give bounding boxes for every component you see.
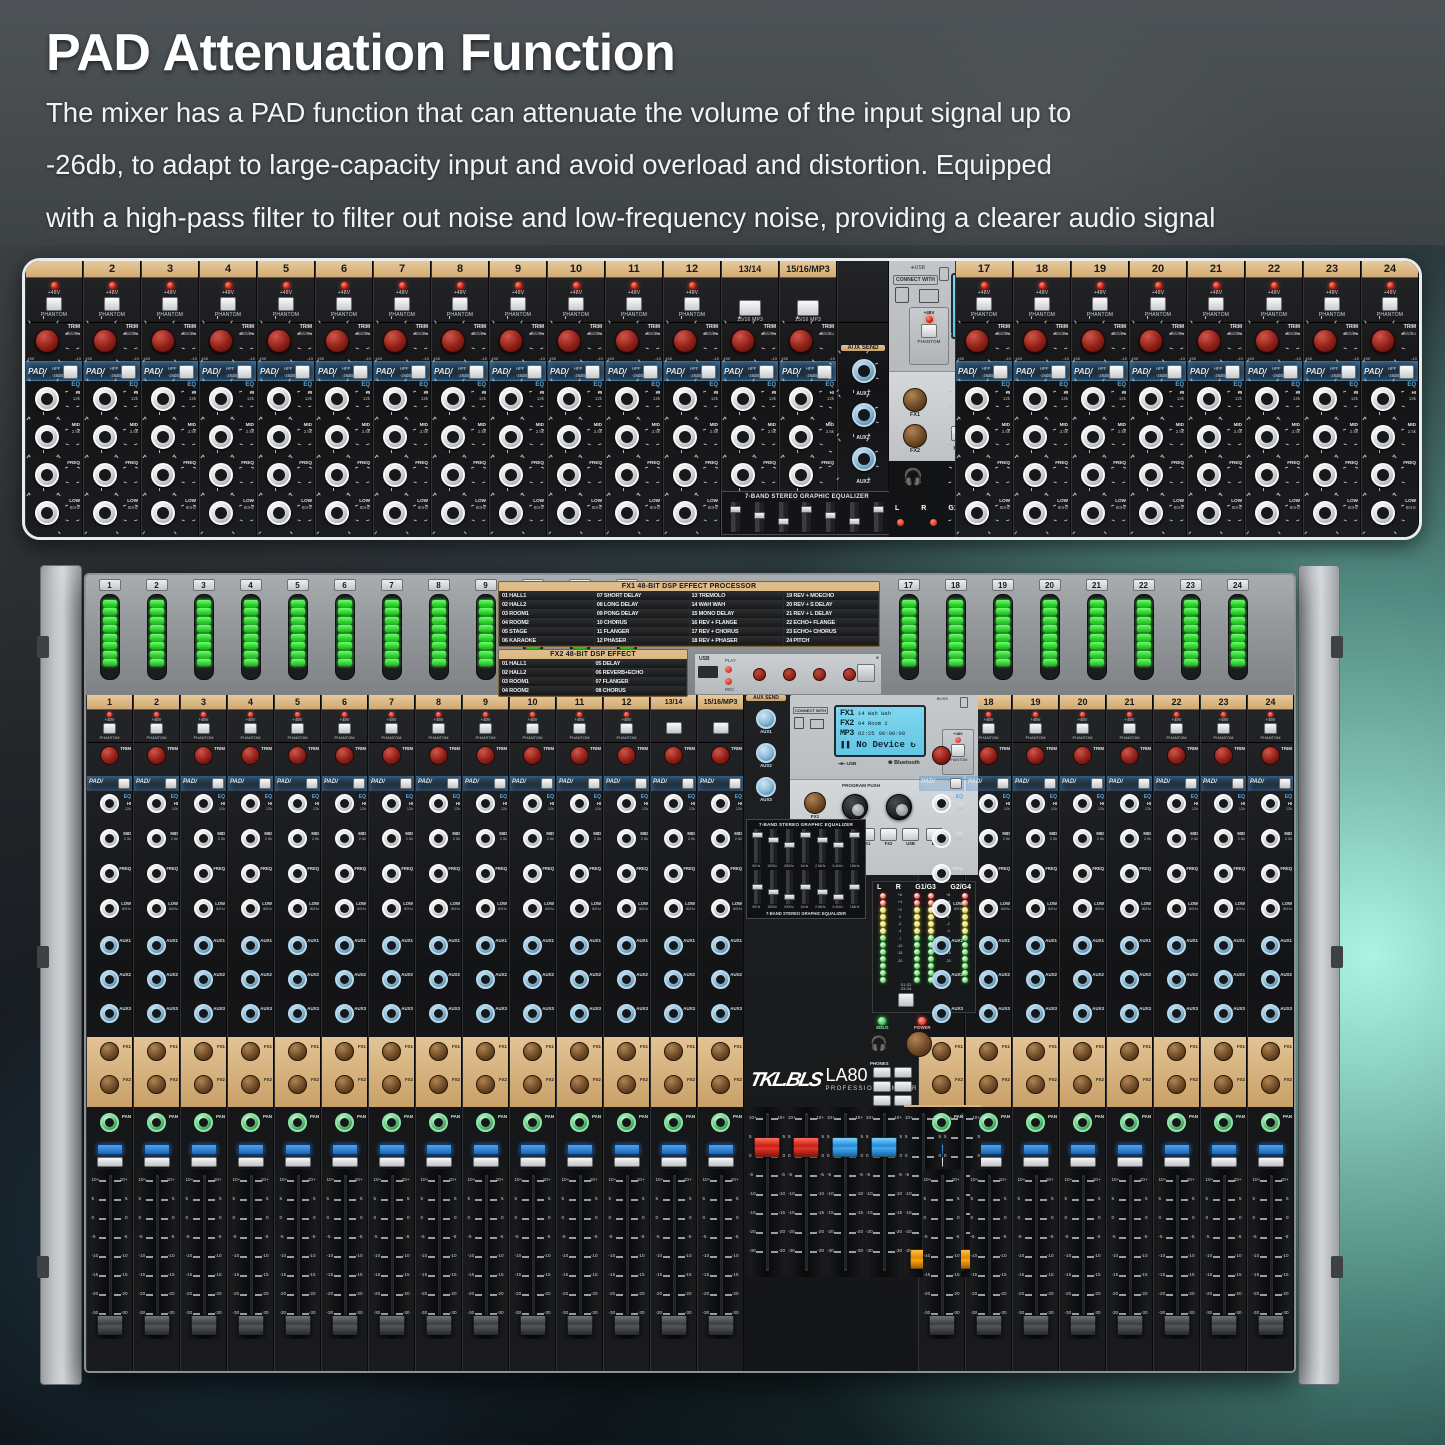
pad-button[interactable] — [585, 365, 600, 379]
transport-button-2[interactable] — [813, 668, 826, 681]
program-button-fx2[interactable] — [880, 828, 897, 841]
channel-mute-button[interactable] — [614, 1144, 640, 1155]
channel-fader[interactable]: 10+10+5500-5-5-10-10-15-15-20-20-30-30 — [608, 1169, 646, 1339]
eq-mid-knob[interactable] — [1026, 829, 1045, 848]
pad-button[interactable] — [237, 365, 252, 379]
channel-mute-button[interactable] — [1070, 1144, 1096, 1155]
eq-freq-knob[interactable] — [570, 864, 589, 883]
geq-band-5[interactable] — [850, 502, 859, 532]
aux3-knob[interactable] — [1167, 1004, 1186, 1023]
pan-knob[interactable] — [570, 1113, 589, 1132]
aux1-knob[interactable] — [429, 936, 448, 955]
aux1-knob[interactable] — [617, 936, 636, 955]
eq-hi-knob[interactable] — [979, 794, 998, 813]
aux3-knob[interactable] — [523, 1004, 542, 1023]
pad-button[interactable] — [950, 778, 962, 789]
mp3-source-button[interactable] — [666, 722, 682, 734]
channel-fader[interactable]: 10+10+5500-5-5-10-10-15-15-20-20-30-30 — [702, 1169, 740, 1339]
fader-cap[interactable] — [379, 1315, 405, 1335]
eq-mid-knob[interactable] — [1120, 829, 1139, 848]
aux2-knob[interactable] — [382, 970, 401, 989]
phantom-button[interactable] — [432, 723, 445, 734]
trim-knob[interactable] — [1214, 746, 1233, 765]
trim-knob[interactable] — [335, 746, 354, 765]
fader-cap[interactable] — [793, 1137, 819, 1157]
eq-hi-knob[interactable] — [673, 387, 697, 411]
geq-band-4-cap[interactable] — [825, 512, 836, 519]
pad-button[interactable] — [400, 778, 412, 789]
phantom-button[interactable] — [1264, 723, 1277, 734]
eq-mid-knob[interactable] — [429, 829, 448, 848]
channel-solo-button[interactable] — [238, 1157, 264, 1167]
pan-knob[interactable] — [1120, 1113, 1139, 1132]
pan-knob[interactable] — [617, 1113, 636, 1132]
channel-solo-button[interactable] — [614, 1157, 640, 1167]
channel-fader[interactable]: 10+10+5500-5-5-10-10-15-15-20-20-30-30 — [467, 1169, 505, 1339]
eq-freq-knob[interactable] — [1023, 463, 1047, 487]
fader-cap[interactable] — [473, 1315, 499, 1335]
eq-mid-knob[interactable] — [383, 425, 407, 449]
eq-mid-knob[interactable] — [711, 829, 730, 848]
phantom-button[interactable] — [573, 723, 586, 734]
fx1-send-knob[interactable] — [100, 1042, 119, 1061]
pad-button[interactable] — [701, 365, 716, 379]
geq-band-5-cap[interactable] — [849, 518, 860, 525]
fader-cap[interactable] — [708, 1315, 734, 1335]
pad-button[interactable] — [1232, 778, 1244, 789]
trim-knob[interactable] — [151, 329, 175, 353]
trim-knob[interactable] — [615, 329, 639, 353]
eq-low-knob[interactable] — [1073, 899, 1092, 918]
trim-knob[interactable] — [288, 746, 307, 765]
eq-hi-knob[interactable] — [1214, 794, 1233, 813]
aux2-knob[interactable] — [429, 970, 448, 989]
transport-button-3[interactable] — [843, 668, 856, 681]
fx1-send-knob[interactable] — [1214, 1042, 1233, 1061]
fader-cap[interactable] — [1164, 1315, 1190, 1335]
pad-button[interactable] — [541, 778, 553, 789]
aux2-knob[interactable] — [1167, 970, 1186, 989]
trim-knob[interactable] — [429, 746, 448, 765]
fader-cap[interactable] — [754, 1137, 780, 1157]
eq-mid-knob[interactable] — [673, 425, 697, 449]
geq-band-4-cap[interactable] — [817, 837, 828, 843]
aux1-knob[interactable] — [1214, 936, 1233, 955]
pad-button[interactable] — [469, 365, 484, 379]
fx2-send-knob[interactable] — [570, 1075, 589, 1094]
trim-knob[interactable] — [100, 746, 119, 765]
eq-mid-knob[interactable] — [570, 829, 589, 848]
fader-cap[interactable] — [1117, 1315, 1143, 1335]
eq-hi-knob[interactable] — [93, 387, 117, 411]
eq-hi-knob[interactable] — [288, 794, 307, 813]
aux3-knob[interactable] — [147, 1004, 166, 1023]
pan-knob[interactable] — [1073, 1113, 1092, 1132]
eq-hi-knob[interactable] — [476, 794, 495, 813]
pad-button[interactable] — [1044, 778, 1056, 789]
pan-knob[interactable] — [100, 1113, 119, 1132]
eq-low-knob[interactable] — [570, 899, 589, 918]
trim-knob[interactable] — [1023, 329, 1047, 353]
aux1-knob[interactable] — [335, 936, 354, 955]
channel-fader[interactable]: 10+10+5500-5-5-10-10-15-15-20-20-30-30 — [1252, 1169, 1290, 1339]
eq-freq-knob[interactable] — [100, 864, 119, 883]
channel-fader[interactable]: 10+10+5500-5-5-10-10-15-15-20-20-30-30 — [91, 1169, 129, 1339]
eq-low-knob[interactable] — [673, 501, 697, 525]
aux1-knob[interactable] — [1261, 936, 1280, 955]
fader-cap[interactable] — [1070, 1315, 1096, 1335]
eq-hi-knob[interactable] — [965, 387, 989, 411]
eq-mid-knob[interactable] — [979, 829, 998, 848]
fx2-send-knob[interactable] — [147, 1075, 166, 1094]
fader-cap[interactable] — [1258, 1315, 1284, 1335]
eq-low-knob[interactable] — [441, 501, 465, 525]
fx2-send-knob[interactable] — [523, 1075, 542, 1094]
eq-mid-knob[interactable] — [932, 829, 951, 848]
aux3-knob[interactable] — [241, 1004, 260, 1023]
eq-low-knob[interactable] — [1371, 501, 1395, 525]
fader-cap[interactable] — [285, 1315, 311, 1335]
channel-fader[interactable]: 10+10+5500-5-5-10-10-15-15-20-20-30-30 — [1017, 1169, 1055, 1339]
geq-band-1-cap[interactable] — [768, 837, 779, 843]
aux1-knob[interactable] — [194, 936, 213, 955]
eq-hi-knob[interactable] — [615, 387, 639, 411]
phantom-button[interactable] — [104, 297, 120, 311]
channel-mute-button[interactable] — [144, 1144, 170, 1155]
trim-knob[interactable] — [1073, 746, 1092, 765]
fx1-master-knob[interactable] — [903, 388, 927, 412]
center-aux1-knob[interactable] — [756, 709, 776, 729]
geq-band-1-cap[interactable] — [768, 889, 779, 895]
usb-a-port-icon[interactable] — [698, 666, 718, 678]
pad-button[interactable] — [1283, 365, 1298, 379]
trim-knob[interactable] — [476, 746, 495, 765]
eq-freq-knob[interactable] — [979, 864, 998, 883]
fx1-send-knob[interactable] — [1026, 1042, 1045, 1061]
phantom-button[interactable] — [103, 723, 116, 734]
fx2-send-knob[interactable] — [1261, 1075, 1280, 1094]
pad-button[interactable] — [759, 365, 774, 379]
trim-knob[interactable] — [325, 329, 349, 353]
channel-fader[interactable]: 10+10+5500-5-5-10-10-15-15-20-20-30-30 — [865, 1107, 903, 1277]
trim-knob[interactable] — [789, 329, 813, 353]
channel-solo-button[interactable] — [661, 1157, 687, 1167]
eq-mid-knob[interactable] — [1139, 425, 1163, 449]
pan-knob[interactable] — [1214, 1113, 1233, 1132]
channel-solo-button[interactable] — [1117, 1157, 1143, 1167]
aux3-knob[interactable] — [1120, 1004, 1139, 1023]
eq-low-knob[interactable] — [335, 899, 354, 918]
eq-freq-knob[interactable] — [1073, 864, 1092, 883]
trim-knob[interactable] — [147, 746, 166, 765]
aux3-knob[interactable] — [852, 447, 876, 471]
eq-mid-knob[interactable] — [1023, 425, 1047, 449]
phantom-button[interactable] — [620, 723, 633, 734]
eq-mid-knob[interactable] — [209, 425, 233, 449]
eq-hi-knob[interactable] — [382, 794, 401, 813]
fx2-send-knob[interactable] — [664, 1075, 683, 1094]
aux2-knob[interactable] — [335, 970, 354, 989]
fader-cap[interactable] — [661, 1315, 687, 1335]
geq-band-3-cap[interactable] — [800, 884, 811, 890]
eq-freq-knob[interactable] — [617, 864, 636, 883]
aux3-knob[interactable] — [1026, 1004, 1045, 1023]
eq-mid-knob[interactable] — [147, 829, 166, 848]
channel-fader[interactable]: 10+10+5500-5-5-10-10-15-15-20-20-30-30 — [326, 1169, 364, 1339]
pan-knob[interactable] — [1026, 1113, 1045, 1132]
eq-low-knob[interactable] — [100, 899, 119, 918]
fx1-send-knob[interactable] — [711, 1042, 730, 1061]
fx2-send-knob[interactable] — [476, 1075, 495, 1094]
geq-band-6[interactable] — [874, 502, 883, 532]
eq-low-knob[interactable] — [523, 899, 542, 918]
eq-hi-knob[interactable] — [932, 794, 951, 813]
pan-knob[interactable] — [1261, 1113, 1280, 1132]
eq-freq-knob[interactable] — [93, 463, 117, 487]
fx1-send-knob[interactable] — [335, 1042, 354, 1061]
mp3-source-button[interactable] — [713, 722, 729, 734]
fader-cap[interactable] — [614, 1315, 640, 1335]
channel-solo-button[interactable] — [567, 1157, 593, 1167]
eq-mid-knob[interactable] — [382, 829, 401, 848]
fx1-send-knob[interactable] — [1120, 1042, 1139, 1061]
aux3-knob[interactable] — [382, 1004, 401, 1023]
pad-button[interactable] — [295, 365, 310, 379]
channel-solo-button[interactable] — [332, 1157, 358, 1167]
eq-hi-knob[interactable] — [1371, 387, 1395, 411]
eq-freq-knob[interactable] — [1167, 864, 1186, 883]
fx1-send-knob[interactable] — [1167, 1042, 1186, 1061]
eq-hi-knob[interactable] — [209, 387, 233, 411]
aux2-knob[interactable] — [617, 970, 636, 989]
eq-freq-knob[interactable] — [557, 463, 581, 487]
phantom-button[interactable] — [1123, 723, 1136, 734]
eq-low-knob[interactable] — [288, 899, 307, 918]
eq-freq-knob[interactable] — [241, 864, 260, 883]
eq-low-knob[interactable] — [267, 501, 291, 525]
eq-freq-knob[interactable] — [1139, 463, 1163, 487]
fx2-send-knob[interactable] — [100, 1075, 119, 1094]
pad-button[interactable] — [1051, 365, 1066, 379]
aux1-knob[interactable] — [711, 936, 730, 955]
pad-button[interactable] — [63, 365, 78, 379]
eq-freq-knob[interactable] — [194, 864, 213, 883]
aux3-knob[interactable] — [1073, 1004, 1092, 1023]
eq-mid-knob[interactable] — [476, 829, 495, 848]
aux3-knob[interactable] — [711, 1004, 730, 1023]
aux1-knob[interactable] — [100, 936, 119, 955]
eq-mid-knob[interactable] — [1167, 829, 1186, 848]
phantom-button[interactable] — [1170, 723, 1183, 734]
pad-button[interactable] — [179, 365, 194, 379]
phantom-button[interactable] — [1034, 297, 1050, 311]
geq-band-2[interactable] — [786, 829, 793, 863]
eq-mid-knob[interactable] — [499, 425, 523, 449]
fx1-send-knob[interactable] — [194, 1042, 213, 1061]
fx2-send-knob[interactable] — [979, 1075, 998, 1094]
pad-button[interactable] — [1167, 365, 1182, 379]
eq-mid-knob[interactable] — [35, 425, 59, 449]
eq-freq-knob[interactable] — [325, 463, 349, 487]
eq-freq-knob[interactable] — [731, 463, 755, 487]
channel-mute-button[interactable] — [661, 1144, 687, 1155]
trim-knob[interactable] — [35, 329, 59, 353]
eq-mid-knob[interactable] — [731, 425, 755, 449]
eq-mid-knob[interactable] — [1214, 829, 1233, 848]
channel-mute-button[interactable] — [97, 1144, 123, 1155]
phantom-button[interactable] — [291, 723, 304, 734]
aux3-knob[interactable] — [100, 1004, 119, 1023]
phantom-button[interactable] — [1150, 297, 1166, 311]
eq-freq-knob[interactable] — [1255, 463, 1279, 487]
usb-b-port-icon[interactable] — [857, 664, 875, 682]
geq-band-3-cap[interactable] — [800, 832, 811, 838]
pad-button[interactable] — [997, 778, 1009, 789]
fx1-send-knob[interactable] — [1261, 1042, 1280, 1061]
aux3-knob[interactable] — [429, 1004, 448, 1023]
eq-hi-knob[interactable] — [499, 387, 523, 411]
channel-fader[interactable]: 10+10+5500-5-5-10-10-15-15-20-20-30-30 — [1205, 1169, 1243, 1339]
eq-mid-knob[interactable] — [789, 425, 813, 449]
pad-button[interactable] — [165, 778, 177, 789]
pan-knob[interactable] — [382, 1113, 401, 1132]
fx1-send-knob[interactable] — [617, 1042, 636, 1061]
geq-band-0-cap[interactable] — [752, 884, 763, 890]
geq-band-0-cap[interactable] — [752, 832, 763, 838]
center-aux3-knob[interactable] — [756, 777, 776, 797]
eq-mid-knob[interactable] — [1081, 425, 1105, 449]
trim-knob[interactable] — [673, 329, 697, 353]
pad-button[interactable] — [259, 778, 271, 789]
eq-freq-knob[interactable] — [711, 864, 730, 883]
channel-mute-button[interactable] — [1164, 1144, 1190, 1155]
eq-freq-knob[interactable] — [209, 463, 233, 487]
channel-mute-button[interactable] — [1023, 1144, 1049, 1155]
geq-band-6-cap[interactable] — [849, 832, 860, 838]
trim-knob[interactable] — [979, 746, 998, 765]
pan-knob[interactable] — [288, 1113, 307, 1132]
fx2-send-knob[interactable] — [932, 1075, 951, 1094]
channel-solo-button[interactable] — [285, 1157, 311, 1167]
pan-knob[interactable] — [194, 1113, 213, 1132]
eq-low-knob[interactable] — [557, 501, 581, 525]
fx2-send-knob[interactable] — [1214, 1075, 1233, 1094]
aux2-knob[interactable] — [1214, 970, 1233, 989]
geq-band-5-cap[interactable] — [833, 842, 844, 848]
fx1-send-knob[interactable] — [288, 1042, 307, 1061]
eq-freq-knob[interactable] — [1313, 463, 1337, 487]
aux1-knob[interactable] — [664, 936, 683, 955]
play-button[interactable] — [725, 666, 732, 673]
channel-solo-button[interactable] — [473, 1157, 499, 1167]
fx2-send-knob[interactable] — [1073, 1075, 1092, 1094]
eq-freq-knob[interactable] — [1026, 864, 1045, 883]
channel-fader[interactable]: 10+10+5500-5-5-10-10-15-15-20-20-30-30 — [1064, 1169, 1102, 1339]
geq-band-3-cap[interactable] — [801, 506, 812, 513]
eq-low-knob[interactable] — [1081, 501, 1105, 525]
phantom-button[interactable] — [982, 723, 995, 734]
fx2-master-knob[interactable] — [903, 424, 927, 448]
fx1-send-knob[interactable] — [664, 1042, 683, 1061]
geq-band-0[interactable] — [754, 870, 761, 904]
master-assign-button-0[interactable] — [873, 1067, 891, 1078]
eq-low-knob[interactable] — [1261, 899, 1280, 918]
trim-knob[interactable] — [1167, 746, 1186, 765]
eq-low-knob[interactable] — [499, 501, 523, 525]
trim-knob[interactable] — [1371, 329, 1395, 353]
program-encoder-2[interactable] — [886, 794, 912, 820]
trim-knob[interactable] — [617, 746, 636, 765]
eq-hi-knob[interactable] — [325, 387, 349, 411]
pan-knob[interactable] — [1167, 1113, 1186, 1132]
pad-button[interactable] — [527, 365, 542, 379]
geq-band-6[interactable] — [851, 829, 858, 863]
fx2-send-knob[interactable] — [194, 1075, 213, 1094]
eq-low-knob[interactable] — [151, 501, 175, 525]
eq-hi-knob[interactable] — [151, 387, 175, 411]
eq-hi-knob[interactable] — [383, 387, 407, 411]
program-button-usb[interactable] — [902, 828, 919, 841]
aux2-knob[interactable] — [241, 970, 260, 989]
eq-mid-knob[interactable] — [1313, 425, 1337, 449]
pad-button[interactable] — [1341, 365, 1356, 379]
program-encoder-1[interactable] — [842, 794, 868, 820]
aux3-knob[interactable] — [1214, 1004, 1233, 1023]
geq-band-5[interactable] — [835, 870, 842, 904]
channel-fader[interactable]: 10+10+5500-5-5-10-10-15-15-20-20-30-30 — [232, 1169, 270, 1339]
trim-knob[interactable] — [1197, 329, 1221, 353]
trim-knob[interactable] — [93, 329, 117, 353]
geq-band-1[interactable] — [770, 870, 777, 904]
fx2-send-knob[interactable] — [1167, 1075, 1186, 1094]
channel-solo-button[interactable] — [97, 1157, 123, 1167]
geq-band-2-cap[interactable] — [784, 894, 795, 900]
eq-low-knob[interactable] — [1214, 899, 1233, 918]
aux2-knob[interactable] — [570, 970, 589, 989]
eq-freq-knob[interactable] — [382, 864, 401, 883]
channel-solo-button[interactable] — [144, 1157, 170, 1167]
fx2-send-knob[interactable] — [382, 1075, 401, 1094]
phantom-button[interactable] — [626, 297, 642, 311]
aux1-knob[interactable] — [1167, 936, 1186, 955]
eq-mid-knob[interactable] — [523, 829, 542, 848]
aux2-knob[interactable] — [932, 970, 951, 989]
eq-freq-knob[interactable] — [35, 463, 59, 487]
geq-band-2-cap[interactable] — [778, 518, 789, 525]
eq-hi-knob[interactable] — [557, 387, 581, 411]
channel-solo-button[interactable] — [1070, 1157, 1096, 1167]
channel-mute-button[interactable] — [332, 1144, 358, 1155]
eq-hi-knob[interactable] — [1261, 794, 1280, 813]
eq-low-knob[interactable] — [1313, 501, 1337, 525]
eq-hi-knob[interactable] — [523, 794, 542, 813]
phantom-button[interactable] — [1208, 297, 1224, 311]
phantom-button[interactable] — [479, 723, 492, 734]
master-assign-button-1[interactable] — [894, 1067, 912, 1078]
pad-button[interactable] — [993, 365, 1008, 379]
channel-fader[interactable]: 10+10+5500-5-5-10-10-15-15-20-20-30-30TO… — [787, 1107, 825, 1277]
master-assign-button-2[interactable] — [873, 1081, 891, 1092]
phantom-button[interactable] — [1382, 297, 1398, 311]
eq-low-knob[interactable] — [35, 501, 59, 525]
eq-low-knob[interactable] — [209, 501, 233, 525]
eq-mid-knob[interactable] — [194, 829, 213, 848]
eq-freq-knob[interactable] — [1371, 463, 1395, 487]
eq-hi-knob[interactable] — [1255, 387, 1279, 411]
geq-band-5[interactable] — [835, 829, 842, 863]
aux2-knob[interactable] — [194, 970, 213, 989]
fx1-send-knob[interactable] — [523, 1042, 542, 1061]
